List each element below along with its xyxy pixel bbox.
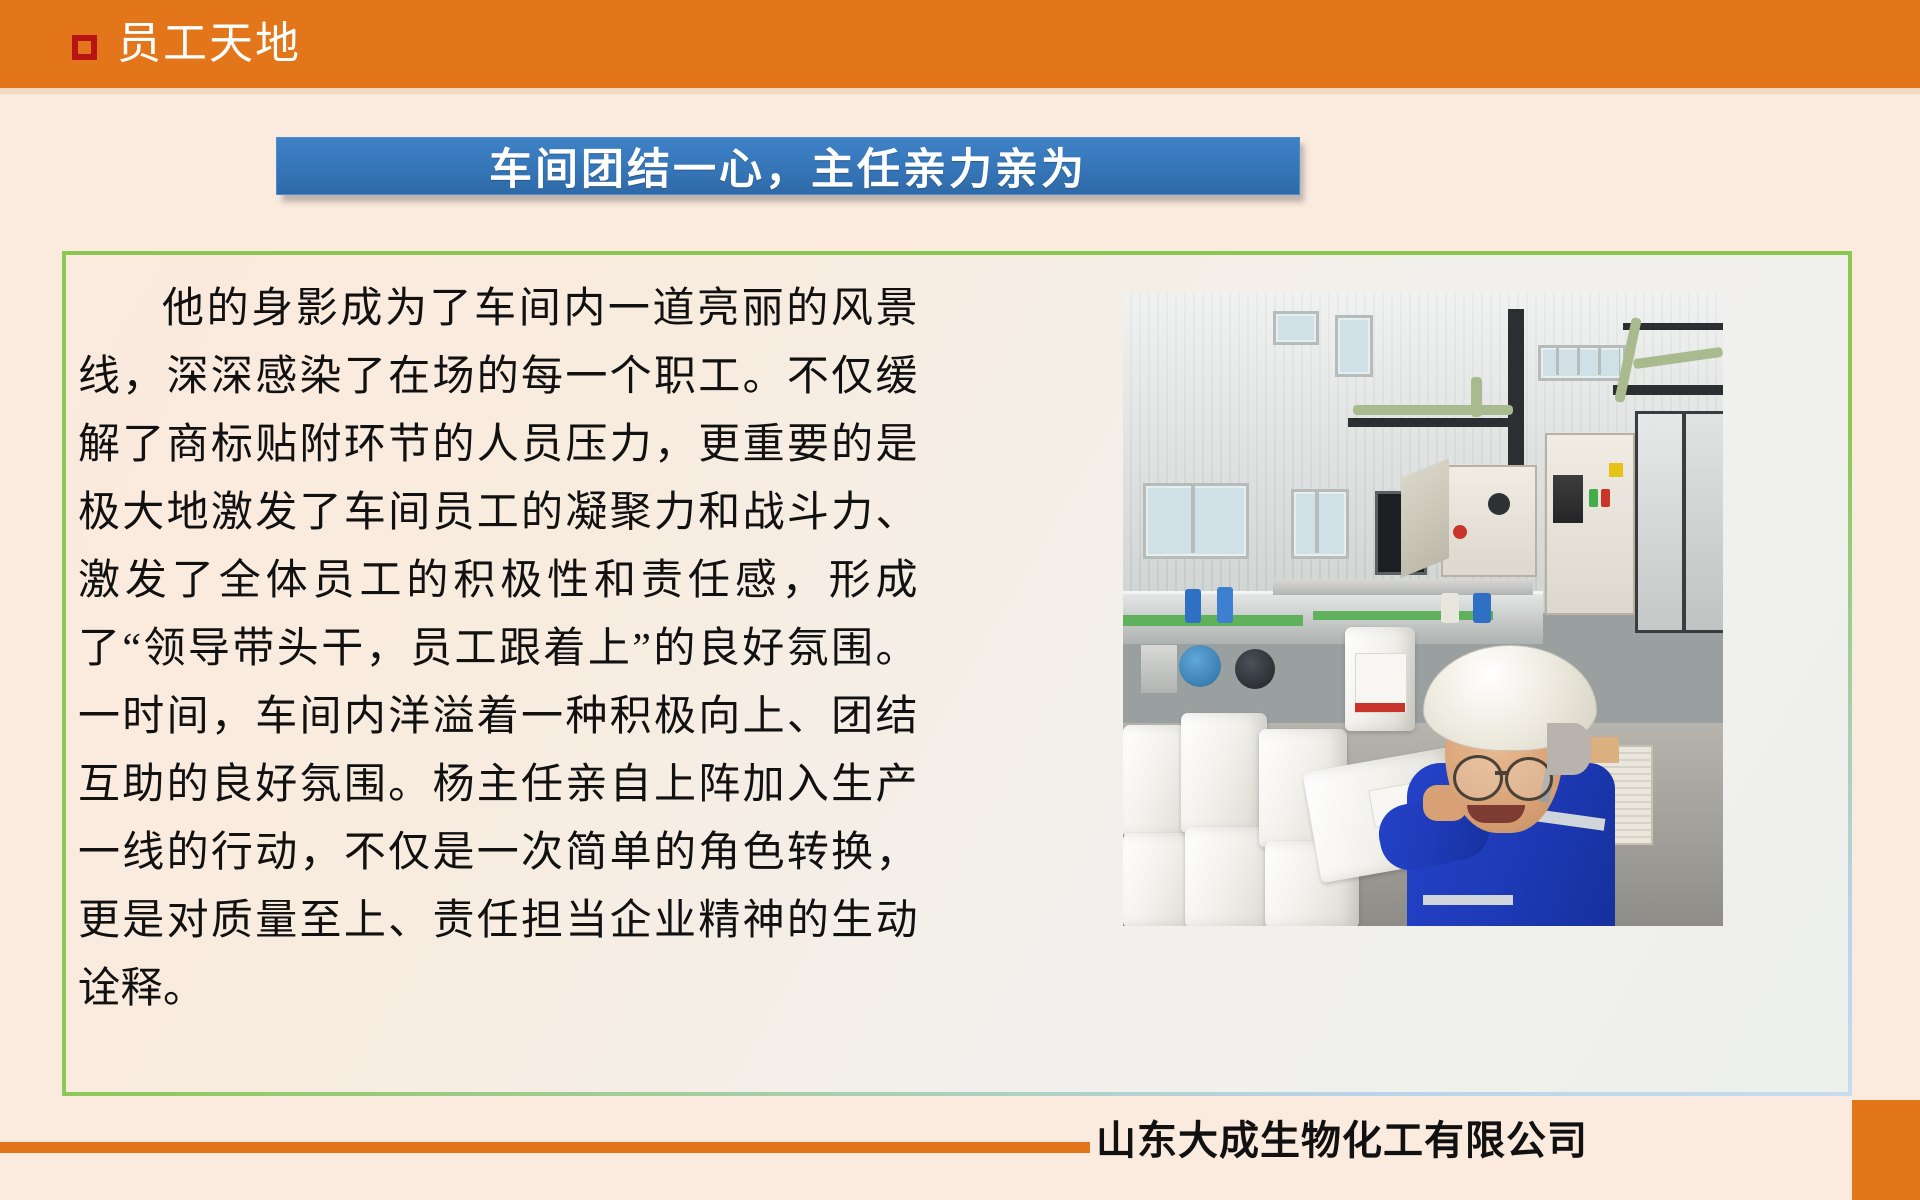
photo-conveyor-frame [1273,579,1533,595]
photo-worker-glasses-right [1505,757,1553,801]
photo-window-mid [1291,489,1349,559]
photo-warning-label [1609,463,1623,477]
photo-glass-rack-1 [1635,411,1685,633]
page-title: 员工天地 [117,22,301,66]
photo-worker-glasses-bridge [1495,771,1509,775]
photo-jug-stack-3 [1181,713,1267,833]
photo-bottle-1 [1185,589,1201,623]
title-banner-label: 车间团结一心，主任亲力亲为 [489,135,1087,197]
photo-mezzanine-floor [1613,385,1723,395]
slide-canvas: 员工天地 车间团结一心，主任亲力亲为 他的身影成为了车间内一道亮丽的风景线，深深… [0,0,1920,1200]
photo-window-grid [1538,345,1620,375]
photo-steel-column [1508,309,1524,469]
photo-filler-port [1488,493,1510,515]
header-underline [0,88,1920,94]
footer-company-name: 山东大成生物化工有限公司 [1096,1108,1588,1166]
photo-motor-blue [1179,645,1221,687]
photo-pipe-vertical [1471,377,1482,417]
photo-conveyor-belt-2 [1313,611,1493,620]
photo-conveyor-belt [1123,615,1303,626]
red-square-bullet-icon [72,35,97,60]
photo-cabinet-panel [1553,475,1583,523]
photo-bottle-3 [1441,593,1459,623]
factory-production-line-photo [1123,293,1723,926]
photo-glass-rack-2 [1683,411,1723,633]
photo-steel-beam [1348,418,1518,427]
photo-vent-2 [1335,315,1373,377]
photo-cabinet-right [1545,433,1635,615]
photo-window-mid-mullion [1315,489,1319,553]
header-title-group: 员工天地 [72,22,301,66]
photo-jug-label-red-strip [1355,703,1405,712]
photo-motor-dark [1235,649,1275,689]
content-box: 他的身影成为了车间内一道亮丽的风景线，深深感染了在场的每一个职工。不仅缓解了商标… [62,251,1852,1096]
photo-signal-red [1601,489,1610,507]
content-inner: 他的身影成为了车间内一道亮丽的风景线，深深感染了在场的每一个职工。不仅缓解了商标… [66,255,1848,1092]
photo-window-left-mullion [1191,483,1195,553]
article-body-text: 他的身影成为了车间内一道亮丽的风景线，深深感染了在场的每一个职工。不仅缓解了商标… [78,275,918,1023]
photo-filler-red-button [1453,525,1467,539]
photo-pipe-horizontal [1353,405,1513,415]
photo-worker-glasses-left [1453,755,1503,801]
photo-signal-green [1589,489,1598,507]
photo-worker-mouth [1467,805,1525,823]
title-banner: 车间团结一心，主任亲力亲为 [276,137,1300,195]
photo-worker-hair [1547,723,1591,775]
photo-gearbox [1141,645,1177,693]
photo-filler-machine [1441,465,1537,577]
photo-window-left [1143,483,1249,559]
photo-worker-reflective-stripe-2 [1423,895,1513,905]
photo-hopper-hood [1401,458,1449,577]
photo-bottle-2 [1217,587,1233,623]
footer-accent-block [1852,1100,1920,1200]
photo-vent-1 [1273,311,1319,345]
photo-bottle-4 [1473,593,1491,623]
footer-accent-line [0,1142,1090,1153]
